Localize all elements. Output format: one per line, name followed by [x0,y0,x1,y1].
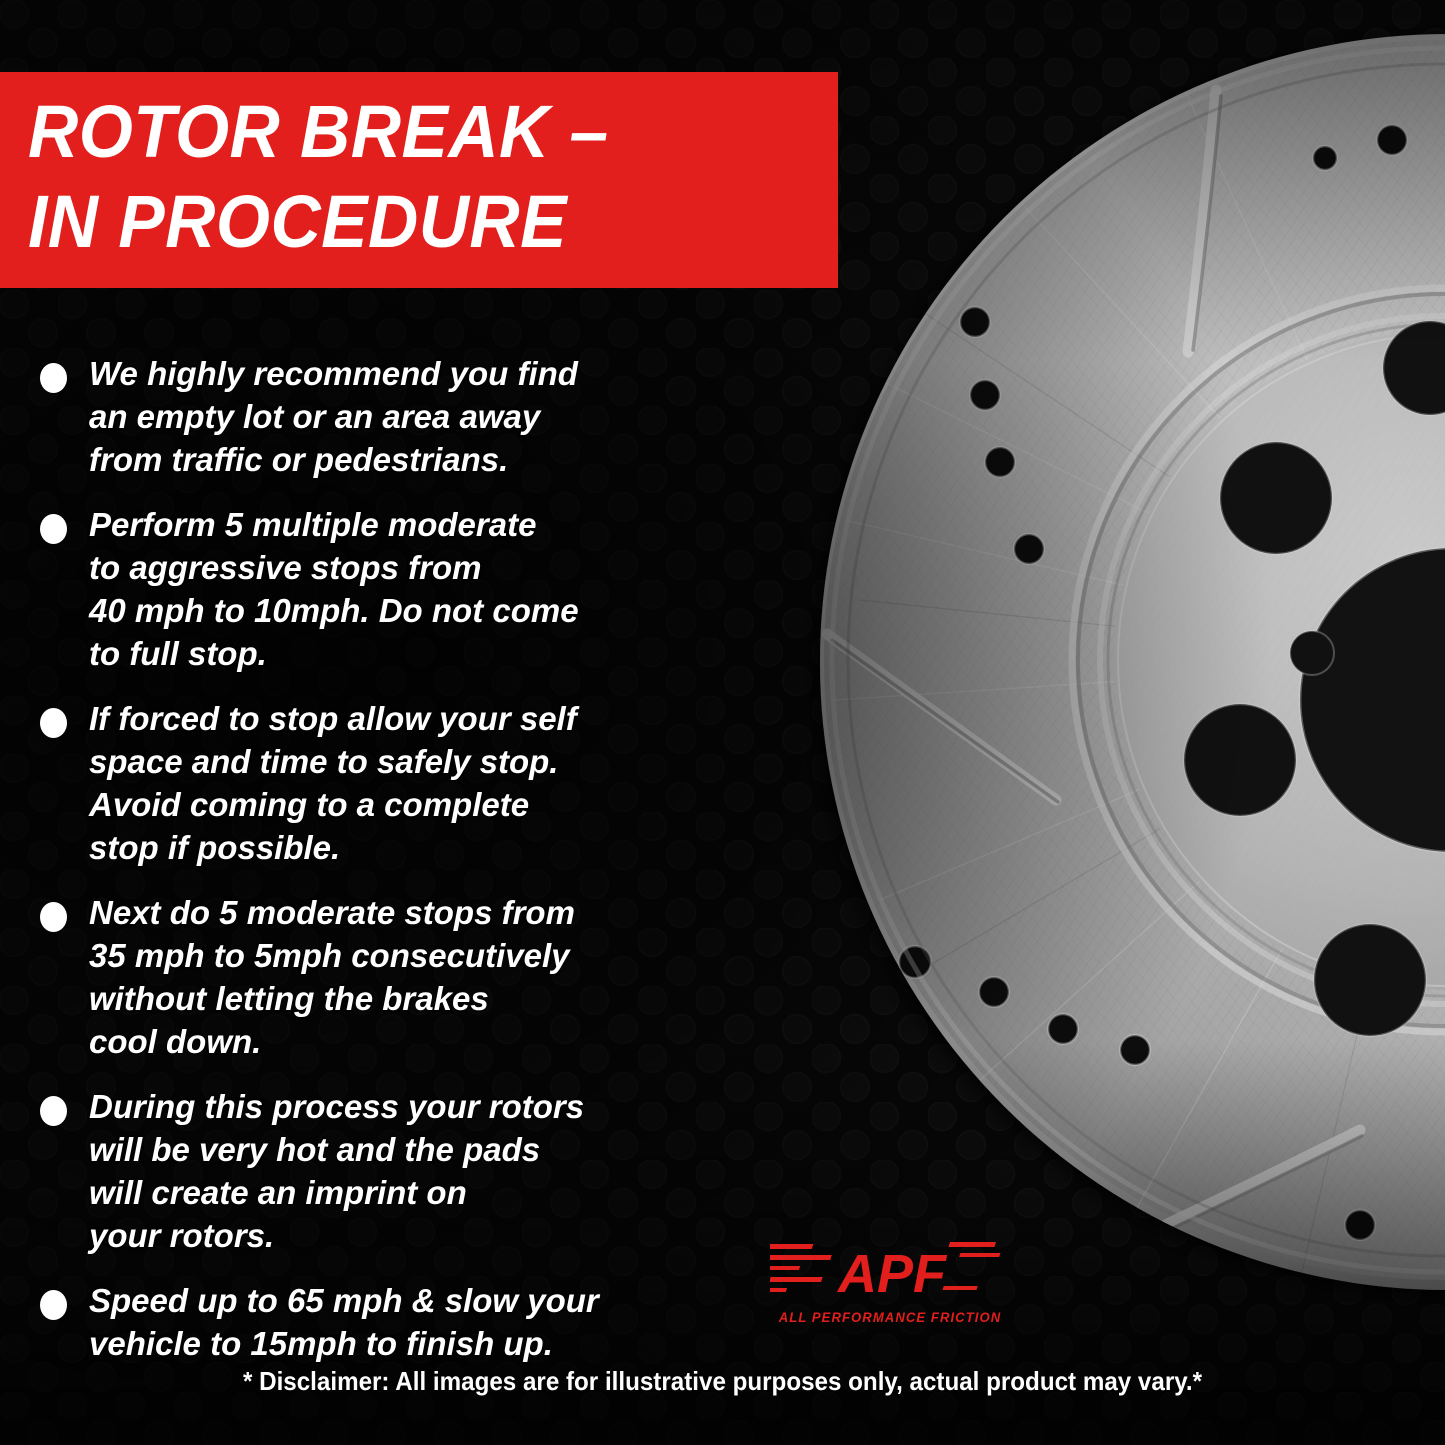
apf-logo: APF ALL PERFORMANCE FRICTION [770,1236,1010,1336]
bullet-dot-icon [40,902,67,932]
list-item: We highly recommend you find an empty lo… [40,352,770,481]
bullet-dot-icon [40,1290,67,1320]
title-banner: ROTOR BREAK – IN PROCEDURE [0,72,838,288]
list-item-text: Speed up to 65 mph & slow your vehicle t… [89,1279,599,1365]
apf-tagline: ALL PERFORMANCE FRICTION [774,1310,1007,1325]
list-item-text: We highly recommend you find an empty lo… [89,352,578,481]
list-item: If forced to stop allow your self space … [40,697,770,869]
disclaimer-text: * Disclaimer: All images are for illustr… [51,1366,1395,1397]
bullet-dot-icon [40,514,67,544]
apf-wordmark: APF [836,1244,948,1304]
instruction-list: We highly recommend you find an empty lo… [40,352,770,1387]
list-item: Next do 5 moderate stops from 35 mph to … [40,891,770,1063]
list-item-text: During this process your rotors will be … [89,1085,584,1257]
list-item-text: Next do 5 moderate stops from 35 mph to … [89,891,575,1063]
bullet-dot-icon [40,363,67,393]
page-title-line-2: IN PROCEDURE [28,177,789,267]
bullet-dot-icon [40,708,67,738]
list-item-text: Perform 5 multiple moderate to aggressiv… [89,503,579,675]
bullet-dot-icon [40,1096,67,1126]
list-item: Speed up to 65 mph & slow your vehicle t… [40,1279,770,1365]
rotor-break-in-infographic: ROTOR BREAK – IN PROCEDURE We highly rec… [0,0,1445,1445]
list-item: Perform 5 multiple moderate to aggressiv… [40,503,770,675]
list-item: During this process your rotors will be … [40,1085,770,1257]
list-item-text: If forced to stop allow your self space … [89,697,577,869]
page-title-line-1: ROTOR BREAK – [28,87,789,177]
